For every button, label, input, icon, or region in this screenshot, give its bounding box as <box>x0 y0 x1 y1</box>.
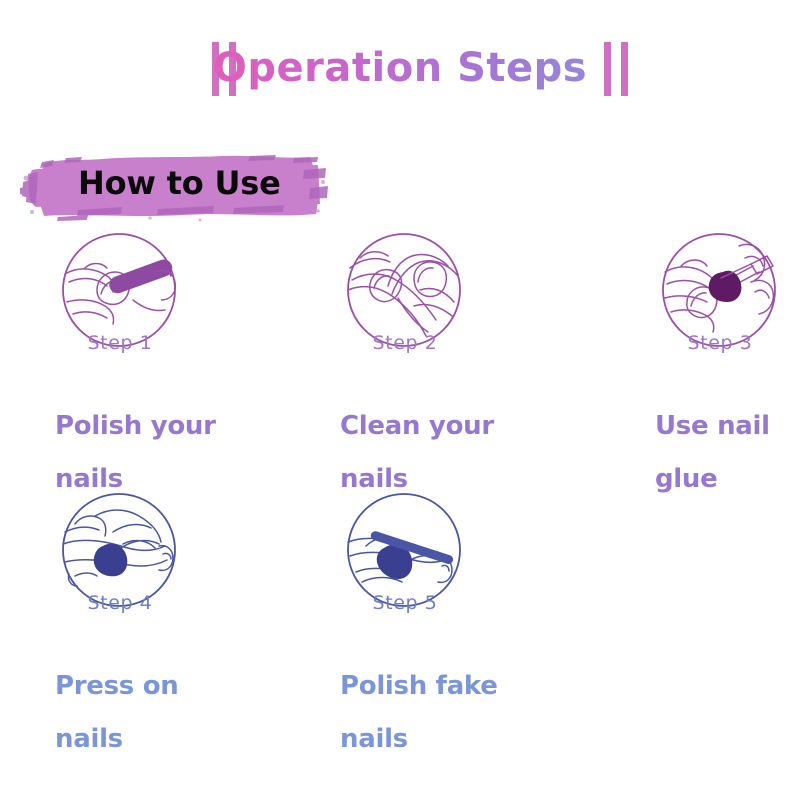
step-2-illustration: Step 2 <box>340 228 470 358</box>
title-decoration-right <box>604 42 628 96</box>
step-5-caption: Polish fake nails <box>340 660 580 766</box>
step-card-4: Step 4 Press on nails <box>55 488 295 766</box>
step-card-3: Step 3 Use nail glue <box>655 228 800 506</box>
page-title: Operation Steps <box>0 36 800 100</box>
step-1-number: Step 1 <box>41 332 199 354</box>
page-header: Operation Steps <box>0 36 800 108</box>
step-1-illustration: Step 1 <box>55 228 185 358</box>
step-3-caption: Use nail glue <box>655 400 800 506</box>
step-4-caption: Press on nails <box>55 660 295 766</box>
step-3-illustration: Step 3 <box>655 228 785 358</box>
step-2-number: Step 2 <box>326 332 484 354</box>
step-card-1: Step 1 Polish your nails <box>55 228 295 506</box>
step-card-2: Step 2 Clean your nails <box>340 228 580 506</box>
step-4-illustration: Step 4 <box>55 488 185 618</box>
step-3-number: Step 3 <box>641 332 799 354</box>
how-to-use-label: How to Use <box>78 162 281 204</box>
step-5-number: Step 5 <box>326 592 484 614</box>
decorative-bar-icon <box>621 42 628 96</box>
step-4-number: Step 4 <box>41 592 199 614</box>
how-to-use-banner: How to Use <box>18 148 328 224</box>
decorative-bar-icon <box>604 42 611 96</box>
step-card-5: Step 5 Polish fake nails <box>340 488 580 766</box>
step-5-illustration: Step 5 <box>340 488 470 618</box>
